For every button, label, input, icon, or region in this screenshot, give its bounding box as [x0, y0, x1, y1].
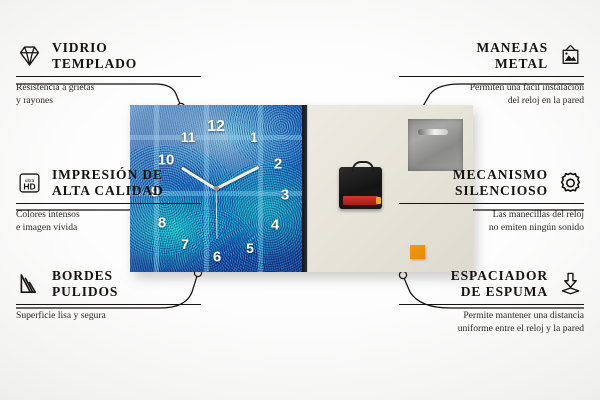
feature-title: MECANISMOSILENCIOSO — [453, 167, 548, 199]
feature-divider — [399, 76, 584, 77]
feature-title: IMPRESIÓN DEALTA CALIDAD — [52, 167, 164, 199]
feature-subtitle: Colores intensose imagen vívida — [16, 209, 201, 234]
feature-title: ESPACIADORDE ESPUMA — [451, 268, 548, 300]
clock-center-pin — [214, 186, 219, 191]
feature-subtitle: Resistencia a grietasy rayones — [16, 82, 201, 107]
feature-impresion-alta-calidad: ultra HD IMPRESIÓN DEALTA CALIDAD Colore… — [16, 167, 201, 235]
clock-numeral: 3 — [281, 188, 289, 203]
svg-text:HD: HD — [23, 181, 35, 191]
feature-title: MANEJASMETAL — [476, 40, 548, 72]
feature-subtitle: Superficie lisa y segura — [16, 310, 201, 323]
metal-hanger-plate — [408, 119, 463, 171]
battery — [343, 196, 378, 205]
hanger-slot — [418, 129, 448, 135]
feature-divider — [399, 203, 584, 204]
feature-divider — [399, 304, 584, 305]
feature-vidrio-templado: VIDRIOTEMPLADO Resistencia a grietasy ra… — [16, 40, 201, 108]
feature-espaciador-espuma: ESPACIADORDE ESPUMA Permite mantener una… — [399, 268, 584, 336]
polished-edges-icon — [16, 271, 43, 297]
clock-numeral: 11 — [181, 130, 196, 144]
diamond-icon — [16, 43, 43, 69]
clock-numeral: 2 — [274, 157, 282, 172]
silent-clock-mechanism — [339, 167, 382, 209]
clock-numeral: 1 — [250, 130, 258, 144]
feature-divider — [16, 203, 201, 204]
mechanism-hanging-loop — [352, 161, 374, 172]
clock-numeral: 4 — [271, 218, 279, 233]
clock-numeral: 12 — [207, 119, 225, 135]
feature-divider — [16, 304, 201, 305]
feature-title: VIDRIOTEMPLADO — [52, 40, 137, 72]
clock-numeral: 5 — [246, 241, 254, 255]
foam-spacer-icon — [557, 271, 584, 297]
hanging-frame-icon — [557, 43, 584, 69]
feature-subtitle: Permite mantener una distanciauniforme e… — [399, 310, 584, 335]
feature-mecanismo-silencioso: MECANISMOSILENCIOSO Las manecillas del r… — [399, 167, 584, 235]
gear-icon — [557, 170, 584, 196]
clock-numeral: 6 — [213, 250, 221, 265]
foam-spacer — [410, 245, 425, 259]
feature-manejas-metal: MANEJASMETAL Permiten una fácil instalac… — [399, 40, 584, 108]
feature-subtitle: Las manecillas del relojno emiten ningún… — [399, 209, 584, 234]
clock-numeral: 10 — [158, 153, 175, 168]
battery-terminal — [376, 197, 381, 204]
infographic-canvas: 12 1 2 3 4 5 6 7 8 9 10 11 — [0, 0, 600, 400]
feature-title: BORDESPULIDOS — [52, 268, 118, 300]
feature-bordes-pulidos: BORDESPULIDOS Superficie lisa y segura — [16, 268, 201, 323]
ultra-hd-icon: ultra HD — [16, 170, 43, 196]
clock-numeral: 7 — [181, 237, 189, 251]
feature-subtitle: Permiten una fácil instalacióndel reloj … — [399, 82, 584, 107]
feature-divider — [16, 76, 201, 77]
